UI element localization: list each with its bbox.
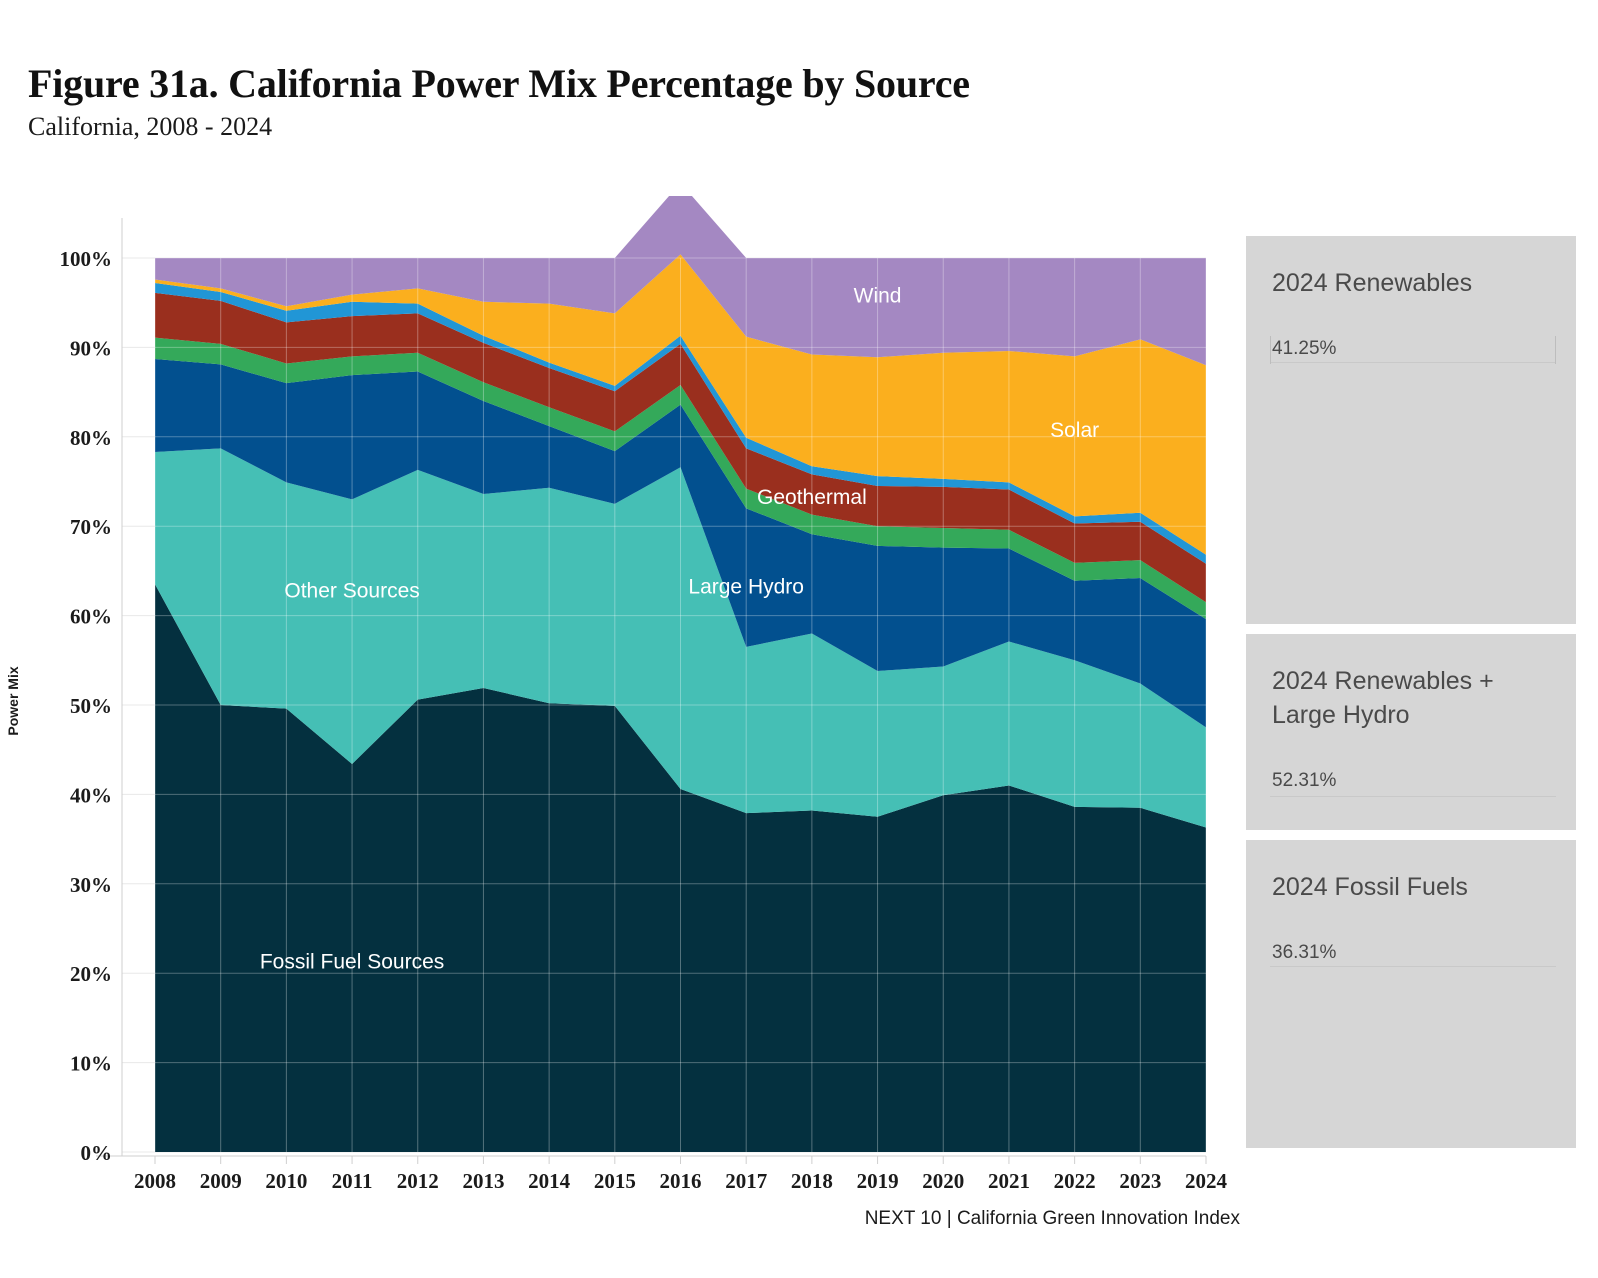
x-tick-label-2018: 2018	[791, 1169, 833, 1193]
y-axis-title: Power Mix	[5, 666, 21, 735]
x-tick-label-2012: 2012	[397, 1169, 439, 1193]
series-label-wind: Wind	[854, 285, 902, 308]
x-tick-label-2013: 2013	[462, 1169, 504, 1193]
x-tick-label-2021: 2021	[988, 1169, 1030, 1193]
x-tick-label-2008: 2008	[134, 1169, 176, 1193]
series-label-geothermal: Geothermal	[757, 486, 867, 509]
x-tick-label-2019: 2019	[857, 1169, 899, 1193]
x-tick-label-2023: 2023	[1119, 1169, 1161, 1193]
x-tick-label-2024: 2024	[1185, 1169, 1228, 1193]
y-tick-label: 40%	[70, 783, 112, 807]
stat-card-divider	[1270, 796, 1556, 797]
y-tick-label: 100%	[60, 247, 113, 271]
x-tick-label-2009: 2009	[200, 1169, 242, 1193]
chart-area: 0%10%20%30%40%50%60%70%80%90%100% 200820…	[0, 196, 1240, 1196]
x-tick-label-2014: 2014	[528, 1169, 571, 1193]
stat-card-title: 2024 Renewables	[1272, 266, 1558, 300]
y-tick-label: 50%	[70, 694, 112, 718]
stat-card-title: 2024 Fossil Fuels	[1272, 870, 1558, 904]
y-tick-label: 70%	[70, 515, 112, 539]
y-tick-label: 90%	[70, 336, 112, 360]
stat-card-value: 36.31%	[1272, 940, 1558, 966]
stat-card-value: 52.31%	[1272, 768, 1558, 794]
y-tick-label: 60%	[70, 605, 112, 629]
x-axis-ticks: 2008200920102011201220132014201520162017…	[134, 1156, 1228, 1193]
stat-card-renewables-plus-hydro[interactable]: 2024 Renewables + Large Hydro 52.31%	[1246, 634, 1576, 830]
stat-card-value: 41.25%	[1272, 336, 1558, 362]
footer-credit: NEXT 10 | California Green Innovation In…	[0, 1208, 1242, 1230]
stat-card-title: 2024 Renewables + Large Hydro	[1272, 664, 1558, 732]
x-tick-label-2022: 2022	[1054, 1169, 1096, 1193]
x-tick-label-2020: 2020	[922, 1169, 964, 1193]
y-axis-ticks: 0%10%20%30%40%50%60%70%80%90%100%	[60, 247, 113, 1165]
y-tick-label: 0%	[81, 1141, 113, 1165]
page-title: Figure 31a. California Power Mix Percent…	[28, 60, 1328, 108]
series-label-fossil-fuel-sources: Fossil Fuel Sources	[260, 951, 444, 974]
x-tick-label-2017: 2017	[725, 1169, 767, 1193]
stat-card-divider	[1270, 362, 1556, 363]
series-label-large-hydro: Large Hydro	[688, 575, 804, 598]
chart-header: Figure 31a. California Power Mix Percent…	[28, 60, 1328, 144]
x-tick-label-2010: 2010	[265, 1169, 307, 1193]
y-tick-label: 20%	[70, 962, 112, 986]
series-areas[interactable]	[155, 196, 1206, 1152]
x-tick-label-2015: 2015	[594, 1169, 636, 1193]
stat-card-divider	[1270, 966, 1556, 967]
power-mix-stacked-area-chart: 0%10%20%30%40%50%60%70%80%90%100% 200820…	[0, 196, 1240, 1196]
stat-card-renewables[interactable]: 2024 Renewables 41.25%	[1246, 236, 1576, 624]
stat-card-fossil-fuels[interactable]: 2024 Fossil Fuels 36.31%	[1246, 840, 1576, 1148]
y-tick-label: 30%	[70, 873, 112, 897]
y-tick-label: 80%	[70, 426, 112, 450]
series-label-solar: Solar	[1050, 419, 1099, 442]
y-tick-label: 10%	[70, 1052, 112, 1076]
x-tick-label-2011: 2011	[332, 1169, 373, 1193]
stat-card-tick-left	[1270, 336, 1271, 364]
x-tick-label-2016: 2016	[660, 1169, 702, 1193]
series-label-other-sources: Other Sources	[284, 580, 419, 603]
summary-cards: 2024 Renewables 41.25% 2024 Renewables +…	[1246, 236, 1576, 1158]
page-subtitle: California, 2008 - 2024	[28, 110, 1328, 144]
